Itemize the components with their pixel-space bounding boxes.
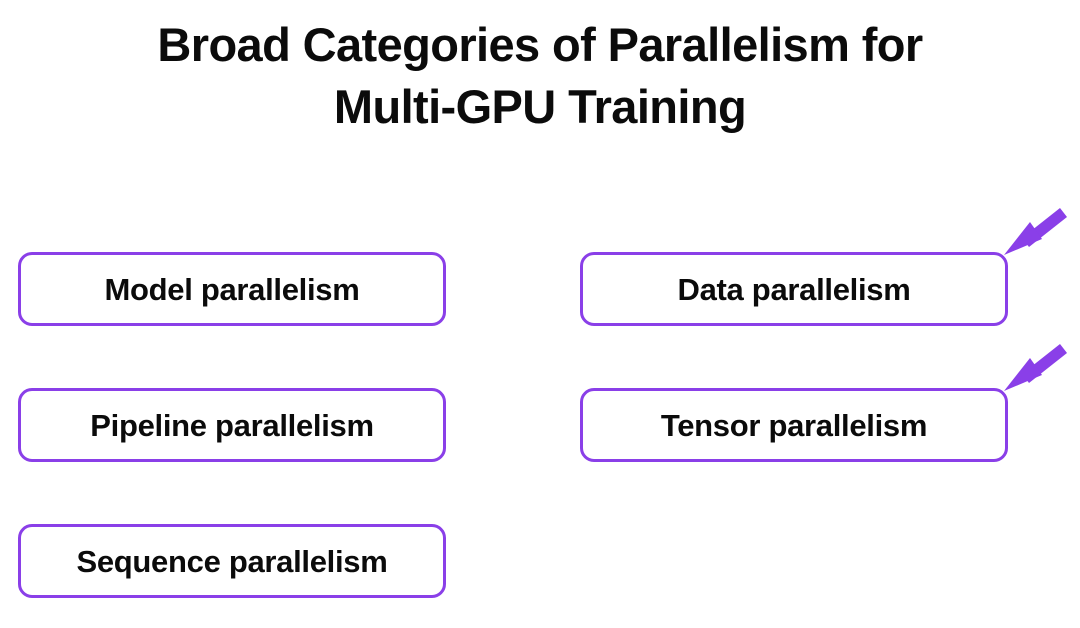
category-box-pipeline-parallelism[interactable]: Pipeline parallelism [18, 388, 446, 462]
category-label: Pipeline parallelism [90, 410, 373, 441]
arrow-down-left-icon [996, 340, 1068, 400]
arrow-pointer-data-parallelism [996, 204, 1068, 264]
category-box-sequence-parallelism[interactable]: Sequence parallelism [18, 524, 446, 598]
page-title-line-2: Multi-GPU Training [0, 76, 1080, 138]
category-label: Data parallelism [678, 274, 911, 305]
arrow-pointer-tensor-parallelism [996, 340, 1068, 400]
page-title-line-1: Broad Categories of Parallelism for [0, 14, 1080, 76]
category-box-model-parallelism[interactable]: Model parallelism [18, 252, 446, 326]
arrow-down-left-icon [996, 204, 1068, 264]
category-label: Model parallelism [104, 274, 359, 305]
page-title: Broad Categories of Parallelism for Mult… [0, 14, 1080, 138]
category-label: Tensor parallelism [661, 410, 927, 441]
slide-canvas: Broad Categories of Parallelism for Mult… [0, 0, 1080, 628]
category-box-data-parallelism[interactable]: Data parallelism [580, 252, 1008, 326]
category-label: Sequence parallelism [76, 546, 387, 577]
category-box-tensor-parallelism[interactable]: Tensor parallelism [580, 388, 1008, 462]
